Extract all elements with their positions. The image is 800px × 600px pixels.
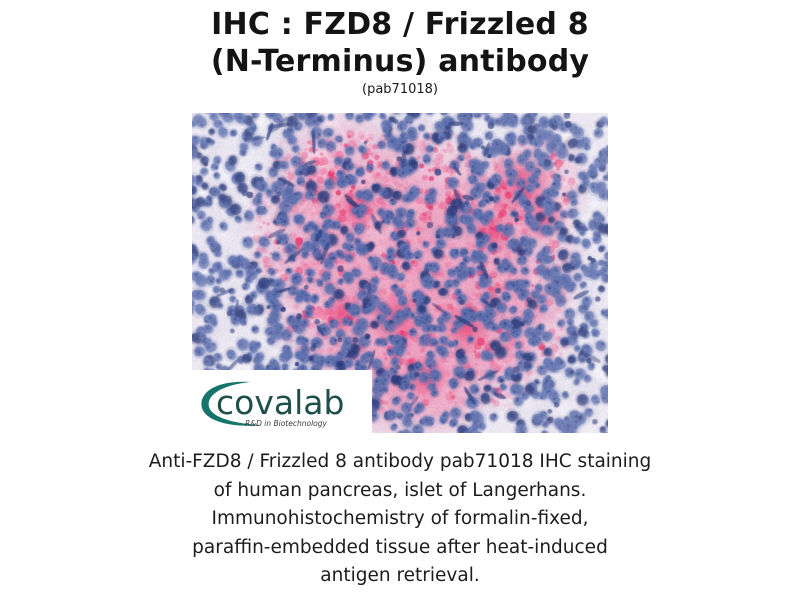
page-title-line-1: IHC : FZD8 / Frizzled 8 [0,6,800,43]
caption-block: Anti-FZD8 / Frizzled 8 antibody pab71018… [0,448,800,591]
page-title-line-2: (N-Terminus) antibody [0,43,800,80]
caption-line: antigen retrieval. [0,562,800,591]
product-code: (pab71018) [0,81,800,98]
caption-line: Anti-FZD8 / Frizzled 8 antibody pab71018… [0,448,800,477]
covalab-logo-svg: covalab R&D in Biotechnology [192,370,372,433]
caption-line: paraffin-embedded tissue after heat-indu… [0,534,800,563]
logo-wordmark: covalab [216,383,344,422]
logo-tagline: R&D in Biotechnology [245,419,327,428]
micrograph-image: covalab R&D in Biotechnology [192,113,608,433]
title-block: IHC : FZD8 / Frizzled 8 (N-Terminus) ant… [0,0,800,98]
caption-line: of human pancreas, islet of Langerhans. [0,477,800,506]
covalab-logo-watermark: covalab R&D in Biotechnology [192,370,372,433]
caption-line: Immunohistochemistry of formalin-fixed, [0,505,800,534]
